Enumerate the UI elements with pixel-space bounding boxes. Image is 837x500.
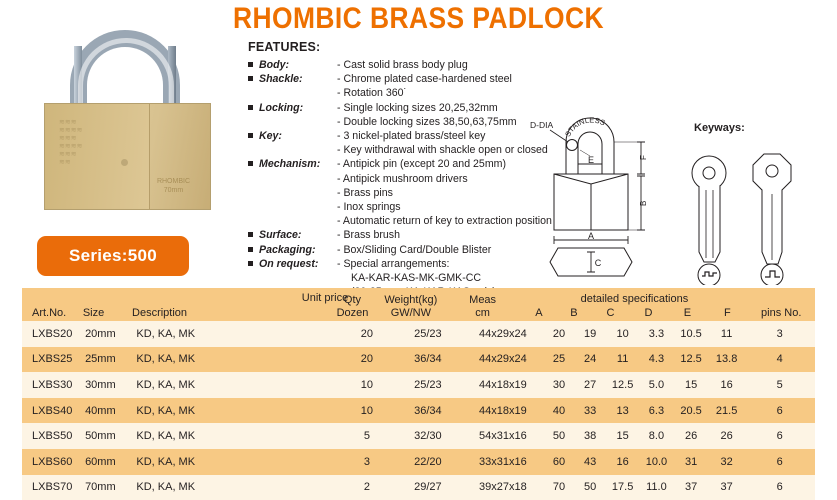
table-row: LXBS3030mmKD, KA, MK1025/2344x18x1930271… <box>22 372 815 398</box>
feature-value: - Key withdrawal with shackle open or cl… <box>337 143 548 157</box>
th-spec-group-label: detailed specifications <box>521 293 747 305</box>
cell-description: KD, KA, MK <box>134 379 257 391</box>
features-block: FEATURES: Body:- Cast solid brass body p… <box>248 40 538 299</box>
feature-label: Surface: <box>259 228 337 242</box>
cell-pins: 4 <box>744 353 815 365</box>
cell-description: KD, KA, MK <box>134 430 257 442</box>
cell-weight: 25/23 <box>393 328 462 340</box>
cell-e: 20.5 <box>673 405 709 417</box>
cell-d: 3.3 <box>640 328 674 340</box>
feature-value: - Box/Sliding Card/Double Blister <box>337 243 491 257</box>
cell-weight: 22/20 <box>393 456 462 468</box>
cell-meas: 44x29x24 <box>462 353 543 365</box>
th-weight-l2: GW/NW <box>380 307 442 320</box>
table-body: LXBS2020mmKD, KA, MK2025/2344x29x2420191… <box>22 321 815 500</box>
th-spec-group: detailed specifications A B C D E F <box>521 307 747 319</box>
th-size: Size <box>81 307 130 319</box>
feature-value: - Antipick pin (except 20 and 25mm) <box>337 157 506 171</box>
cell-description: KD, KA, MK <box>134 353 257 365</box>
cell-meas: 54x31x16 <box>462 430 543 442</box>
cell-art-no: LXBS40 <box>22 405 83 417</box>
feature-value: - Cast solid brass body plug <box>337 58 468 72</box>
feature-row: Packaging:- Box/Sliding Card/Double Blis… <box>248 243 538 257</box>
padlock-body: ≋≋≋≋≋≋≋≋≋≋≋≋≋≋≋≋≋≋≋ RHOMBIC 70mm <box>44 103 211 210</box>
feature-bullet-icon <box>248 101 259 110</box>
cell-qty: 20 <box>340 328 393 340</box>
cell-meas: 44x18x19 <box>462 379 543 391</box>
cell-b: 50 <box>575 481 606 493</box>
table-row: LXBS6060mmKD, KA, MK322/2033x31x16604316… <box>22 449 815 475</box>
dim-e-label: E <box>588 155 594 165</box>
feature-label: Body: <box>259 58 337 72</box>
cell-pins: 6 <box>744 456 815 468</box>
padlock-stamp-line2: 70mm <box>164 187 183 194</box>
table-row: LXBS5050mmKD, KA, MK532/3054x31x16503815… <box>22 423 815 449</box>
feature-value: - Chrome plated case-hardened steel <box>337 72 512 86</box>
cell-art-no: LXBS70 <box>22 481 83 493</box>
feature-value: KA-KAR-KAS-MK-GMK-CC <box>337 271 481 285</box>
cell-a: 70 <box>543 481 574 493</box>
cell-pins: 5 <box>744 379 815 391</box>
series-badge: Series:500 <box>37 236 189 276</box>
feature-label: On request: <box>259 257 337 271</box>
cell-b: 24 <box>575 353 606 365</box>
cell-size: 50mm <box>83 430 134 442</box>
cell-size: 70mm <box>83 481 134 493</box>
cell-description: KD, KA, MK <box>134 481 257 493</box>
product-photo: ≋≋≋≋≋≋≋≋≋≋≋≋≋≋≋≋≋≋≋ RHOMBIC 70mm <box>32 28 222 228</box>
cell-qty: 10 <box>340 379 393 391</box>
table-header-row: Art.No. Size Description Qty Dozen Weigh… <box>22 288 815 321</box>
feature-row: - Antipick mushroom drivers <box>248 172 538 186</box>
cell-description: KD, KA, MK <box>134 456 257 468</box>
th-pins: pins No. <box>747 307 815 319</box>
cell-art-no: LXBS30 <box>22 379 83 391</box>
feature-value: - Brass pins <box>337 186 393 200</box>
technical-drawing: D-DIA E A C F B STAINLESS <box>528 112 668 287</box>
table-row: LXBS4040mmKD, KA, MK1036/3444x18x1940331… <box>22 398 815 424</box>
dim-c-label: C <box>595 258 602 268</box>
cell-a: 40 <box>543 405 574 417</box>
cell-size: 40mm <box>83 405 134 417</box>
cell-meas: 44x29x24 <box>462 328 543 340</box>
cell-b: 43 <box>575 456 606 468</box>
feature-label: Shackle: <box>259 72 337 86</box>
th-weight: Weight(kg) GW/NW <box>378 294 444 319</box>
th-description: Description <box>130 307 248 319</box>
feature-bullet-icon <box>248 271 259 280</box>
cell-d: 11.0 <box>640 481 674 493</box>
cell-weight: 36/34 <box>393 405 462 417</box>
cell-weight: 36/34 <box>393 353 462 365</box>
keyways-block: Keyways: <box>672 122 832 287</box>
cell-size: 25mm <box>83 353 134 365</box>
cell-art-no: LXBS25 <box>22 353 83 365</box>
th-art-no: Art.No. <box>22 307 81 319</box>
cell-d: 8.0 <box>640 430 674 442</box>
feature-row: Surface:- Brass brush <box>248 228 538 242</box>
feature-row: Mechanism:- Antipick pin (except 20 and … <box>248 157 538 171</box>
cell-meas: 44x18x19 <box>462 405 543 417</box>
feature-label: Locking: <box>259 101 337 115</box>
feature-row: - Rotation 360˙ <box>248 86 538 100</box>
feature-row: KA-KAR-KAS-MK-GMK-CC <box>248 271 538 285</box>
cell-pins: 3 <box>744 328 815 340</box>
cell-e: 10.5 <box>673 328 709 340</box>
specifications-table: Art.No. Size Description Qty Dozen Weigh… <box>22 288 815 500</box>
table-row: LXBS2020mmKD, KA, MK2025/2344x29x2420191… <box>22 321 815 347</box>
feature-bullet-icon <box>248 72 259 81</box>
cell-e: 15 <box>673 379 709 391</box>
cell-size: 20mm <box>83 328 134 340</box>
cell-b: 19 <box>575 328 606 340</box>
feature-row: - Inox springs <box>248 200 538 214</box>
th-qty-l2: Dozen <box>329 307 376 320</box>
feature-bullet-icon <box>248 143 259 152</box>
table-row: LXBS7070mmKD, KA, MK229/2739x27x18705017… <box>22 475 815 500</box>
feature-value: - Special arrangements: <box>337 257 449 271</box>
cell-f: 11 <box>709 328 745 340</box>
dim-a-label: A <box>588 231 594 241</box>
cell-pins: 6 <box>744 430 815 442</box>
cell-description: KD, KA, MK <box>134 328 257 340</box>
feature-row: - Double locking sizes 38,50,63,75mm <box>248 115 538 129</box>
cell-art-no: LXBS60 <box>22 456 83 468</box>
cell-size: 60mm <box>83 456 134 468</box>
feature-row: Body:- Cast solid brass body plug <box>248 58 538 72</box>
cell-f: 26 <box>709 430 745 442</box>
padlock-keyhole <box>121 159 128 166</box>
feature-value: - Antipick mushroom drivers <box>337 172 468 186</box>
cell-d: 6.3 <box>640 405 674 417</box>
cell-weight: 25/23 <box>393 379 462 391</box>
feature-label: Key: <box>259 129 337 143</box>
feature-bullet-icon <box>248 228 259 237</box>
th-d: D <box>629 307 667 319</box>
feature-bullet-icon <box>248 243 259 252</box>
catalog-page: RHOMBIC BRASS PADLOCK ≋≋≋≋≋≋≋≋≋≋≋≋≋≋≋≋≋≋… <box>0 0 837 470</box>
cell-d: 4.3 <box>640 353 674 365</box>
feature-row: Key:- 3 nickel-plated brass/steel key <box>248 129 538 143</box>
feature-value: - Inox springs <box>337 200 401 214</box>
cell-a: 30 <box>543 379 574 391</box>
dim-d-dia-label: D-DIA <box>530 120 553 130</box>
cell-qty: 20 <box>340 353 393 365</box>
th-b: B <box>556 307 591 319</box>
features-heading: FEATURES: <box>248 40 538 54</box>
cell-weight: 32/30 <box>393 430 462 442</box>
feature-row: - Automatic return of key to extraction … <box>248 214 538 228</box>
feature-row: - Brass pins <box>248 186 538 200</box>
feature-bullet-icon <box>248 186 259 195</box>
stainless-label: STAINLESS <box>563 116 607 139</box>
cell-a: 20 <box>543 328 574 340</box>
th-unit-price-label: Unit price <box>278 292 372 304</box>
cell-size: 30mm <box>83 379 134 391</box>
th-c: C <box>591 307 629 319</box>
cell-a: 25 <box>543 353 574 365</box>
cell-a: 60 <box>543 456 574 468</box>
feature-bullet-icon <box>248 157 259 166</box>
feature-value: - Automatic return of key to extraction … <box>337 214 552 228</box>
cell-c: 17.5 <box>606 481 640 493</box>
feature-label: Mechanism: <box>259 157 337 171</box>
cell-f: 21.5 <box>709 405 745 417</box>
cell-d: 10.0 <box>640 456 674 468</box>
feature-bullet-icon <box>248 214 259 223</box>
th-e: E <box>667 307 707 319</box>
feature-bullet-icon <box>248 172 259 181</box>
feature-row: On request:- Special arrangements: <box>248 257 538 271</box>
cell-c: 15 <box>606 430 640 442</box>
cell-weight: 29/27 <box>393 481 462 493</box>
cell-meas: 39x27x18 <box>462 481 543 493</box>
cell-pins: 6 <box>744 405 815 417</box>
th-meas-l1: Meas <box>446 294 520 307</box>
feature-row: - Key withdrawal with shackle open or cl… <box>248 143 538 157</box>
cell-f: 13.8 <box>709 353 745 365</box>
th-meas: Meas cm <box>444 294 522 319</box>
cell-e: 37 <box>673 481 709 493</box>
feature-bullet-icon <box>248 200 259 209</box>
cell-qty: 5 <box>340 430 393 442</box>
th-a: A <box>521 307 556 319</box>
cell-c: 11 <box>606 353 640 365</box>
feature-value: - Single locking sizes 20,25,32mm <box>337 101 498 115</box>
cell-description: KD, KA, MK <box>134 405 257 417</box>
cell-e: 12.5 <box>673 353 709 365</box>
th-weight-l1: Weight(kg) <box>380 294 442 307</box>
cell-qty: 3 <box>340 456 393 468</box>
cell-b: 27 <box>575 379 606 391</box>
cell-art-no: LXBS20 <box>22 328 83 340</box>
feature-bullet-icon <box>248 86 259 95</box>
feature-label: Packaging: <box>259 243 337 257</box>
dim-b-label: B <box>639 201 648 206</box>
cell-b: 33 <box>575 405 606 417</box>
cell-c: 12.5 <box>606 379 640 391</box>
cell-f: 37 <box>709 481 745 493</box>
cell-b: 38 <box>575 430 606 442</box>
feature-value: - Brass brush <box>337 228 400 242</box>
feature-bullet-icon <box>248 115 259 124</box>
features-list: Body:- Cast solid brass body plugShackle… <box>248 58 538 299</box>
cell-e: 26 <box>673 430 709 442</box>
cell-meas: 33x31x16 <box>462 456 543 468</box>
th-meas-l2: cm <box>446 307 520 320</box>
padlock-stamp: RHOMBIC 70mm <box>157 177 190 195</box>
cell-c: 10 <box>606 328 640 340</box>
feature-value: - Rotation 360˙ <box>337 86 407 100</box>
cell-f: 32 <box>709 456 745 468</box>
cell-pins: 6 <box>744 481 815 493</box>
feature-row: Shackle:- Chrome plated case-hardened st… <box>248 72 538 86</box>
cell-d: 5.0 <box>640 379 674 391</box>
cell-art-no: LXBS50 <box>22 430 83 442</box>
th-f: F <box>707 307 747 319</box>
feature-row: Locking:- Single locking sizes 20,25,32m… <box>248 101 538 115</box>
feature-bullet-icon <box>248 257 259 266</box>
feature-value: - 3 nickel-plated brass/steel key <box>337 129 485 143</box>
dim-f-label: F <box>639 155 648 160</box>
feature-value: - Double locking sizes 38,50,63,75mm <box>337 115 517 129</box>
cell-c: 13 <box>606 405 640 417</box>
feature-bullet-icon <box>248 129 259 138</box>
cell-e: 31 <box>673 456 709 468</box>
padlock-stamp-line1: RHOMBIC <box>157 178 190 185</box>
keyways-heading: Keyways: <box>694 122 832 134</box>
cell-a: 50 <box>543 430 574 442</box>
cell-c: 16 <box>606 456 640 468</box>
padlock-engraving: ≋≋≋≋≋≋≋≋≋≋≋≋≋≋≋≋≋≋≋ <box>59 118 103 176</box>
cell-qty: 10 <box>340 405 393 417</box>
table-row: LXBS2525mmKD, KA, MK2036/3444x29x2425241… <box>22 347 815 373</box>
cell-f: 16 <box>709 379 745 391</box>
feature-bullet-icon <box>248 58 259 67</box>
cell-qty: 2 <box>340 481 393 493</box>
